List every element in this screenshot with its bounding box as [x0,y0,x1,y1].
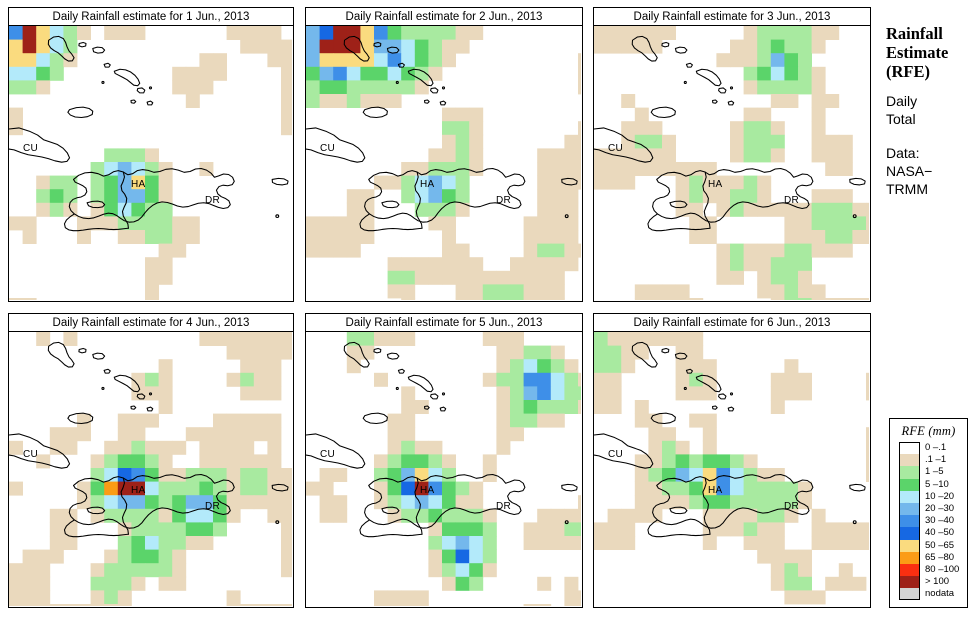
rainfall-map-2: CUHADR [305,25,583,302]
map-panel-2: Daily Rainfall estimate for 2 Jun., 2013… [305,7,583,304]
figure-data-source: Data: NASA− TRMM [886,144,971,198]
legend-label: 5 –10 [925,480,949,490]
legend-label: 1 –5 [925,467,944,477]
legend-label: > 100 [925,577,949,587]
panel-title-4: Daily Rainfall estimate for 4 Jun., 2013 [8,313,294,332]
legend-swatch [899,576,920,588]
legend-label: 0 –.1 [925,443,946,453]
legend-label: 80 –100 [925,565,959,575]
legend-swatch [899,466,920,478]
map-panel-6: Daily Rainfall estimate for 6 Jun., 2013… [593,313,871,610]
rainfall-map-1: CUHADR [8,25,294,302]
legend-row: 10 –20 [899,491,967,503]
figure-title-line-3: (RFE) [886,62,971,81]
rainfall-map-5: CUHADR [305,331,583,608]
legend-label: 50 –65 [925,541,954,551]
map-panel-3: Daily Rainfall estimate for 3 Jun., 2013… [593,7,871,304]
legend-swatch [899,454,920,466]
legend-swatch [899,588,920,600]
figure-title-line-2: Estimate [886,43,971,62]
legend-row: 80 –100 [899,564,967,576]
legend-row: 40 –50 [899,527,967,539]
legend-row: 20 –30 [899,503,967,515]
figure-title: Rainfall Estimate (RFE) [886,24,971,81]
map-panel-1: Daily Rainfall estimate for 1 Jun., 2013… [8,7,294,304]
legend-row: 50 –65 [899,540,967,552]
panel-title-5: Daily Rainfall estimate for 5 Jun., 2013 [305,313,583,332]
legend-label: 40 –50 [925,528,954,538]
legend-label: 10 –20 [925,492,954,502]
legend-row: 65 –80 [899,552,967,564]
rfe-legend: RFE (mm) 0 –.1.1 –11 –55 –1010 –2020 –30… [889,418,968,608]
legend-row: 1 –5 [899,466,967,478]
rainfall-map-6: CUHADR [593,331,871,608]
legend-label: 30 –40 [925,516,954,526]
legend-label: .1 –1 [925,455,946,465]
figure-subtitle-line-1: Daily [886,92,971,110]
panel-title-6: Daily Rainfall estimate for 6 Jun., 2013 [593,313,871,332]
side-info-panel: Rainfall Estimate (RFE) Daily Total Data… [886,24,971,198]
panel-title-2: Daily Rainfall estimate for 2 Jun., 2013 [305,7,583,26]
rainfall-estimate-figure: Daily Rainfall estimate for 1 Jun., 2013… [0,0,971,635]
legend-swatch [899,540,920,552]
legend-swatch [899,491,920,503]
figure-subtitle-line-2: Total [886,110,971,128]
legend-row: nodata [899,588,967,600]
map-panel-4: Daily Rainfall estimate for 4 Jun., 2013… [8,313,294,610]
legend-row: 5 –10 [899,479,967,491]
rainfall-map-4: CUHADR [8,331,294,608]
panel-title-1: Daily Rainfall estimate for 1 Jun., 2013 [8,7,294,26]
legend-row: > 100 [899,576,967,588]
legend-swatch [899,479,920,491]
figure-subtitle: Daily Total [886,92,971,128]
legend-title: RFE (mm) [890,424,967,439]
rainfall-map-3: CUHADR [593,25,871,302]
legend-swatch [899,552,920,564]
legend-label: 65 –80 [925,553,954,563]
legend-entries: 0 –.1.1 –11 –55 –1010 –2020 –3030 –4040 … [899,442,967,600]
panel-title-3: Daily Rainfall estimate for 3 Jun., 2013 [593,7,871,26]
data-source-label: Data: [886,144,971,162]
legend-row: 30 –40 [899,515,967,527]
legend-swatch [899,515,920,527]
legend-row: 0 –.1 [899,442,967,454]
legend-label: 20 –30 [925,504,954,514]
data-source-line-1: NASA− [886,162,971,180]
legend-swatch [899,564,920,576]
legend-label: nodata [925,589,954,599]
figure-title-line-1: Rainfall [886,24,971,43]
legend-swatch [899,503,920,515]
legend-row: .1 –1 [899,454,967,466]
data-source-line-2: TRMM [886,180,971,198]
legend-swatch [899,527,920,539]
map-panel-5: Daily Rainfall estimate for 5 Jun., 2013… [305,313,583,610]
legend-swatch [899,442,920,454]
